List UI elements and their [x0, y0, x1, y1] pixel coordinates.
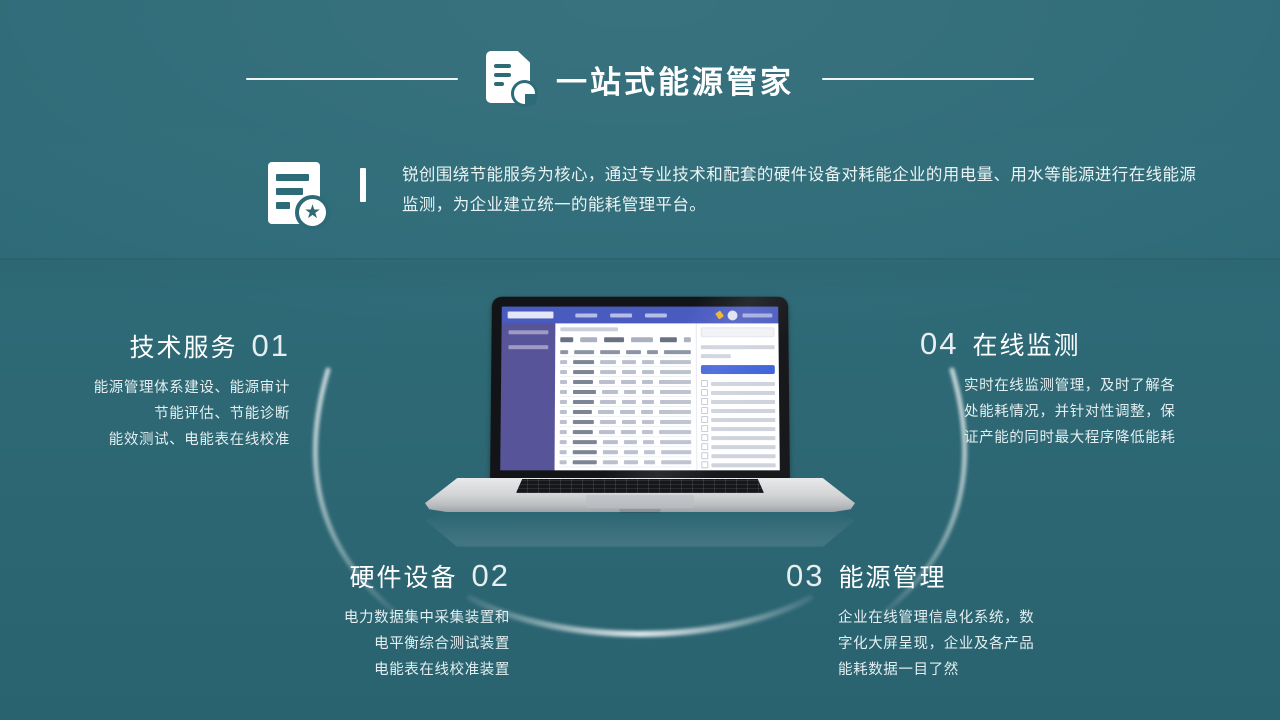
checkbox-item[interactable]	[701, 442, 775, 451]
slide-canvas: 一站式能源管家 ★ 锐创围绕节能服务为核心，通过专业技术和配套的硬件设备对耗能企…	[0, 0, 1280, 720]
laptop-lid	[490, 297, 790, 483]
checkbox-item[interactable]	[701, 424, 775, 433]
header-divider-right	[822, 78, 1034, 80]
avatar	[728, 310, 738, 320]
table-row	[560, 427, 691, 437]
feature-name: 能源管理	[838, 558, 946, 594]
table-row	[560, 417, 691, 427]
app-content	[555, 323, 780, 470]
breadcrumb	[560, 327, 618, 331]
table-row	[560, 447, 692, 457]
slide-header: 一站式能源管家	[0, 46, 1280, 112]
app-logo	[508, 312, 554, 319]
laptop-reflection	[425, 511, 855, 547]
feature-desc: 企业在线管理信息化系统，数 字化大屏呈现，企业及各产品 能耗数据一目了然	[838, 605, 1116, 683]
table-row	[560, 407, 691, 417]
trackpad	[586, 495, 694, 508]
table-row	[560, 437, 692, 447]
checkbox-item[interactable]	[701, 379, 775, 388]
feature-number: 02	[472, 558, 510, 594]
feature-number: 04	[920, 326, 958, 362]
feature-desc: 能源管理体系建设、能源审计 节能评估、节能诊断 能效测试、电能表在线校准	[0, 375, 290, 453]
app-user-area	[717, 310, 773, 320]
feature-block-03: 03 能源管理 企业在线管理信息化系统，数 字化大屏呈现，企业及各产品 能耗数据…	[786, 558, 1116, 683]
document-chart-icon	[486, 51, 538, 107]
feature-name: 技术服务	[130, 328, 238, 364]
feature-block-01: 技术服务 01 能源管理体系建设、能源审计 节能评估、节能诊断 能效测试、电能表…	[0, 328, 290, 453]
table-row	[560, 397, 691, 407]
checkbox-item[interactable]	[701, 469, 775, 470]
header-divider-left	[246, 78, 458, 80]
laptop-mockup	[425, 296, 855, 528]
primary-button[interactable]	[701, 365, 775, 374]
checkbox-item[interactable]	[701, 397, 775, 406]
filter-bar	[560, 337, 691, 342]
table-row	[560, 387, 691, 397]
intro-description: 锐创围绕节能服务为核心，通过专业技术和配套的硬件设备对耗能企业的用电量、用水等能…	[402, 160, 1208, 220]
edit-icon	[715, 310, 724, 319]
app-sidebar	[500, 323, 555, 470]
table-row	[560, 467, 692, 470]
app-topbar	[502, 307, 779, 324]
title-group: 一站式能源管家	[486, 51, 794, 107]
feature-number: 03	[786, 558, 824, 594]
page-title: 一站式能源管家	[556, 57, 794, 102]
table-row	[560, 457, 692, 467]
app-nav	[575, 313, 667, 317]
table-row	[560, 377, 691, 387]
feature-desc: 实时在线监测管理，及时了解各 处能耗情况，并针对性调整，保 证产能的同时最大程序…	[964, 373, 1250, 451]
checkbox-item[interactable]	[701, 451, 775, 460]
username-label	[742, 313, 772, 317]
keyboard	[516, 479, 764, 493]
feature-number: 01	[252, 328, 290, 364]
intro-block: ★ 锐创围绕节能服务为核心，通过专业技术和配套的硬件设备对耗能企业的用电量、用水…	[268, 160, 1208, 230]
feature-block-02: 硬件设备 02 电力数据集中采集装置和 电平衡综合测试装置 电能表在线校准装置	[120, 558, 510, 683]
search-input[interactable]	[701, 327, 775, 337]
side-filter-panel	[696, 323, 780, 470]
filter-select[interactable]	[701, 342, 775, 351]
checkbox-item[interactable]	[701, 388, 775, 397]
table-header-row	[560, 347, 691, 357]
intro-accent-bar	[360, 168, 366, 202]
checkbox-item[interactable]	[701, 433, 775, 442]
feature-name: 硬件设备	[350, 558, 458, 594]
table-row	[560, 357, 691, 367]
filter-select[interactable]	[701, 351, 775, 360]
feature-block-04: 04 在线监测 实时在线监测管理，及时了解各 处能耗情况，并针对性调整，保 证产…	[920, 326, 1250, 451]
document-star-icon: ★	[268, 162, 330, 230]
app-body	[500, 323, 780, 470]
feature-name: 在线监测	[972, 326, 1080, 362]
table-row	[560, 367, 691, 377]
feature-desc: 电力数据集中采集装置和 电平衡综合测试装置 电能表在线校准装置	[120, 605, 510, 683]
data-table-region	[555, 323, 697, 470]
checkbox-item[interactable]	[701, 406, 775, 415]
checkbox-item[interactable]	[701, 415, 775, 424]
laptop-screen	[500, 307, 780, 471]
checkbox-item[interactable]	[701, 460, 775, 469]
